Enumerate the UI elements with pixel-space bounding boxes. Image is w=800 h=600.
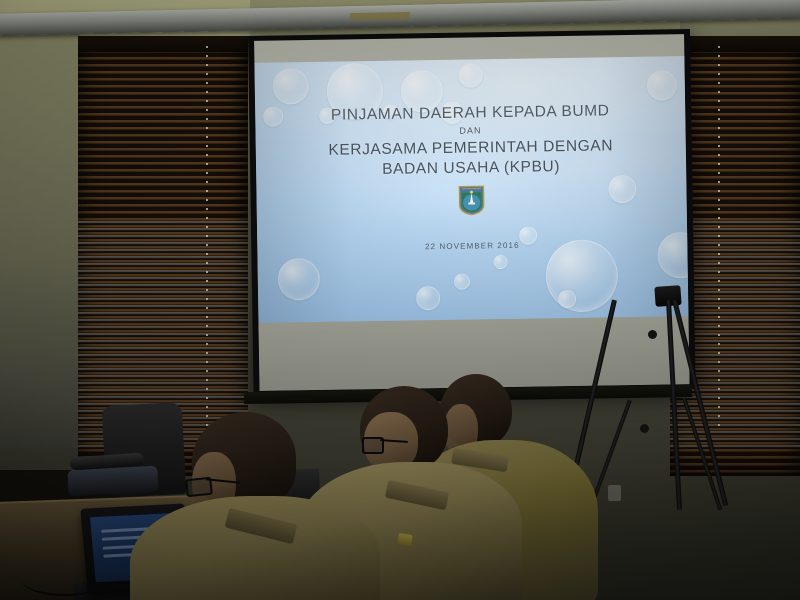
wall-outlet	[608, 485, 621, 501]
slide-bubble-13	[454, 274, 470, 290]
slide-bubble-0	[273, 68, 310, 105]
blind-cord-left[interactable]	[206, 46, 208, 426]
projection-screen: PINJAMAN DAERAH KEPADA BUMD DAN KERJASAM…	[248, 29, 696, 396]
blind-cord-right[interactable]	[718, 46, 720, 426]
slide-bubble-11	[545, 239, 618, 312]
slide-bubble-8	[647, 70, 677, 100]
tripod-knob-upper[interactable]	[648, 330, 657, 339]
slide-bubble-9	[608, 175, 636, 203]
rail-marker	[350, 12, 410, 20]
slide-bubble-14	[277, 258, 320, 301]
office-chair-seat	[67, 466, 158, 497]
laptop-power-cable	[20, 560, 110, 596]
attendee-center-shoulder-badge	[397, 533, 413, 546]
slide-title-block: PINJAMAN DAERAH KEPADA BUMD DAN KERJASAM…	[255, 100, 686, 182]
projected-slide: PINJAMAN DAERAH KEPADA BUMD DAN KERJASAM…	[254, 56, 688, 333]
screen-fabric: PINJAMAN DAERAH KEPADA BUMD DAN KERJASAM…	[254, 34, 689, 391]
slide-bubble-12	[493, 255, 507, 269]
slide-bubble-3	[458, 63, 482, 87]
meeting-room-photo: PINJAMAN DAERAH KEPADA BUMD DAN KERJASAM…	[0, 0, 800, 600]
blinds-header-left	[78, 36, 248, 52]
slide-bubble-17	[416, 286, 440, 310]
wall-left-column	[0, 28, 80, 448]
jakarta-emblem-icon	[458, 185, 485, 220]
slide-date: 22 NOVEMBER 2016	[257, 238, 687, 254]
slide-bubble-decorations	[254, 56, 684, 63]
tripod-knob-lower[interactable]	[640, 424, 649, 433]
